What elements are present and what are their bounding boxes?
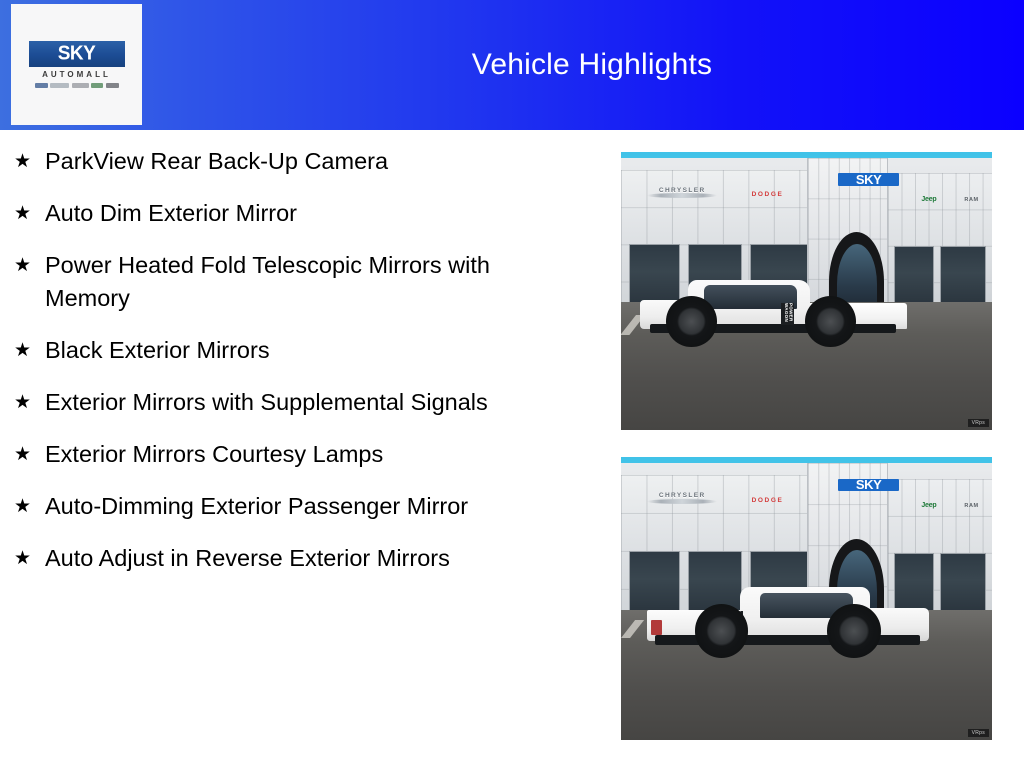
list-item: ★ ParkView Rear Back-Up Camera [14,145,600,178]
star-icon: ★ [14,334,45,366]
jeep-sign: Jeep [912,196,945,203]
chrysler-brand-icon [50,83,69,88]
chrysler-sign: CHRYSLER [647,493,717,501]
jeep-sign-text: Jeep [921,196,936,203]
list-item: ★ Auto Dim Exterior Mirror [14,197,600,230]
vehicle-truck-side-view: POWER WAGON [640,280,907,347]
feature-label: Exterior Mirrors with Supplemental Signa… [45,386,570,419]
truck-front-wheel [666,296,717,347]
chrysler-wing-icon [647,193,717,198]
chrysler-sign: CHRYSLER [647,187,717,195]
list-item: ★ Power Heated Fold Telescopic Mirrors w… [14,249,600,315]
dodge-sign-text: DODGE [752,498,784,505]
vehicle-highlights-slide: Vehicle Highlights SKY AUTOMALL ★ ParkVi… [0,0,1024,768]
logo-subtitle: AUTOMALL [42,70,111,79]
star-icon: ★ [14,542,45,574]
sky-sign-text: SKY [856,173,882,186]
header-bar: Vehicle Highlights [0,0,1024,130]
ram-sign: RAM [955,197,988,204]
dodge-sign: DODGE [740,498,796,505]
list-item: ★ Black Exterior Mirrors [14,334,600,367]
sky-dealer-sign: SKY [838,479,899,492]
feature-label: Power Heated Fold Telescopic Mirrors wit… [45,249,570,315]
feature-label: ParkView Rear Back-Up Camera [45,145,570,178]
ram-sign-text: RAM [964,504,978,510]
jeep-sign: Jeep [912,502,945,509]
dodge-sign: DODGE [740,192,796,199]
vehicle-truck-rear-view: POWER WAGON [647,587,929,658]
sky-dealer-sign: SKY [838,173,899,185]
feature-list: ★ ParkView Rear Back-Up Camera ★ Auto Di… [0,139,600,768]
power-wagon-decal-text: POWER WAGON [783,303,792,326]
list-item: ★ Auto-Dimming Exterior Passenger Mirror [14,490,600,523]
logo-inner: SKY AUTOMALL [29,41,125,89]
page-title: Vehicle Highlights [160,0,1024,130]
photo-watermark: VRps [968,729,989,737]
feature-label: Black Exterior Mirrors [45,334,570,367]
feature-label: Auto Adjust in Reverse Exterior Mirrors [45,542,570,575]
wagoneer-brand-icon [106,83,119,88]
list-item: ★ Exterior Mirrors Courtesy Lamps [14,438,600,471]
logo-plate: SKY [29,41,125,67]
ram-sign-text: RAM [964,198,978,204]
star-icon: ★ [14,249,45,281]
star-icon: ★ [14,438,45,470]
chrysler-wing-icon [647,499,717,504]
star-icon: ★ [14,490,45,522]
truck-taillight [651,620,662,636]
ram-brand-icon [35,83,48,88]
truck-rear-wheel [805,296,856,347]
jeep-sign-text: Jeep [921,502,936,509]
photo-watermark: VRps [968,419,989,427]
power-wagon-decal: POWER WAGON [781,303,794,326]
dodge-sign-text: DODGE [752,192,784,199]
jeep-brand-icon [91,83,103,88]
star-icon: ★ [14,386,45,418]
dealer-logo: SKY AUTOMALL [11,4,142,125]
vehicle-photo-2[interactable]: SKY CHRYSLER DODGE Jeep RAM [621,457,992,740]
feature-label: Auto Dim Exterior Mirror [45,197,570,230]
feature-label: Auto-Dimming Exterior Passenger Mirror [45,490,570,523]
logo-wordmark: SKY [58,42,96,65]
list-item: ★ Auto Adjust in Reverse Exterior Mirror… [14,542,600,575]
feature-label: Exterior Mirrors Courtesy Lamps [45,438,570,471]
sky-sign-text: SKY [856,478,882,491]
vehicle-photo-1[interactable]: SKY CHRYSLER DODGE Jeep RAM [621,152,992,430]
star-icon: ★ [14,145,45,177]
truck-rear-wheel [695,604,749,658]
logo-brand-strip [35,82,119,89]
truck-front-wheel [827,604,881,658]
ram-sign: RAM [955,503,988,510]
dodge-brand-icon [72,83,89,88]
vehicle-photo-gallery: SKY CHRYSLER DODGE Jeep RAM [621,152,992,740]
list-item: ★ Exterior Mirrors with Supplemental Sig… [14,386,600,419]
star-icon: ★ [14,197,45,229]
